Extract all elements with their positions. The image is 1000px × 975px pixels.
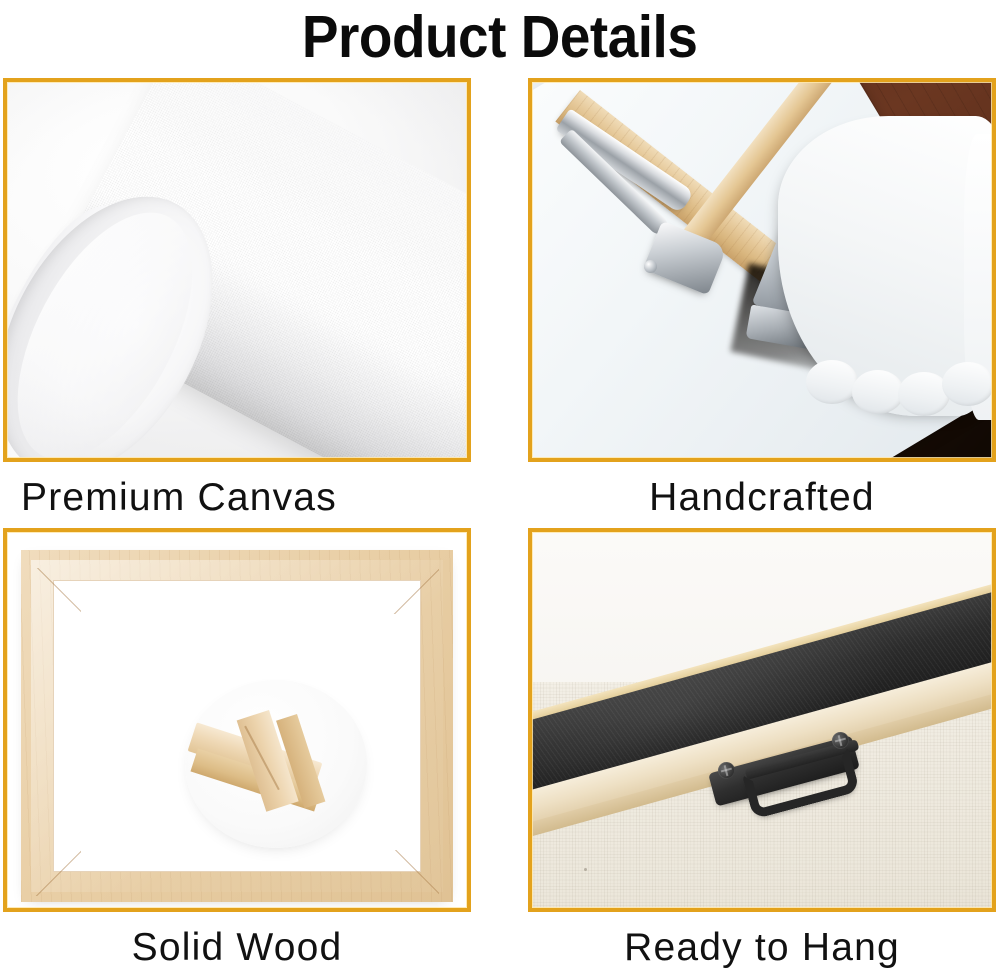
glove-finger [806,360,858,404]
feature-label-ready-to-hang: Ready to Hang [528,912,996,975]
corner-detail-inset [185,680,367,848]
ready-to-hang-photo-frame [528,528,996,912]
miter-joint-bottom-right [393,850,439,896]
canvas-scene [7,82,467,458]
feature-cell-ready-to-hang: Ready to Hang [528,528,996,975]
glove-finger [852,370,904,414]
page-title: Product Details [302,8,697,67]
solid-wood-image [7,532,467,908]
feature-cell-premium-canvas: Premium Canvas [3,78,471,525]
feature-cell-handcrafted: Handcrafted [528,78,996,525]
work-glove [778,116,992,416]
feature-label-handcrafted: Handcrafted [528,462,996,525]
page-header: Product Details [0,0,1000,74]
solid-wood-photo-frame [3,528,471,912]
handcrafted-image [532,82,992,458]
canvas-vignette [7,82,467,458]
glove-finger [942,362,992,406]
premium-canvas-image [7,82,467,458]
miter-joint-top-right [393,568,439,614]
wood-scene [7,532,467,908]
hang-scene [532,532,992,908]
feature-cell-solid-wood: Solid Wood [3,528,471,975]
feature-label-premium-canvas: Premium Canvas [3,462,489,525]
feature-grid: Premium Canvas [0,74,1000,975]
canvas-pliers-rivet [644,260,657,273]
feature-label-solid-wood: Solid Wood [3,912,471,975]
miter-joint-bottom-left [35,850,81,896]
craft-scene [532,82,992,458]
miter-joint-top-left [35,568,81,614]
ready-to-hang-image [532,532,992,908]
premium-canvas-photo-frame [3,78,471,462]
cloth-speck [584,868,587,871]
handcrafted-photo-frame [528,78,996,462]
